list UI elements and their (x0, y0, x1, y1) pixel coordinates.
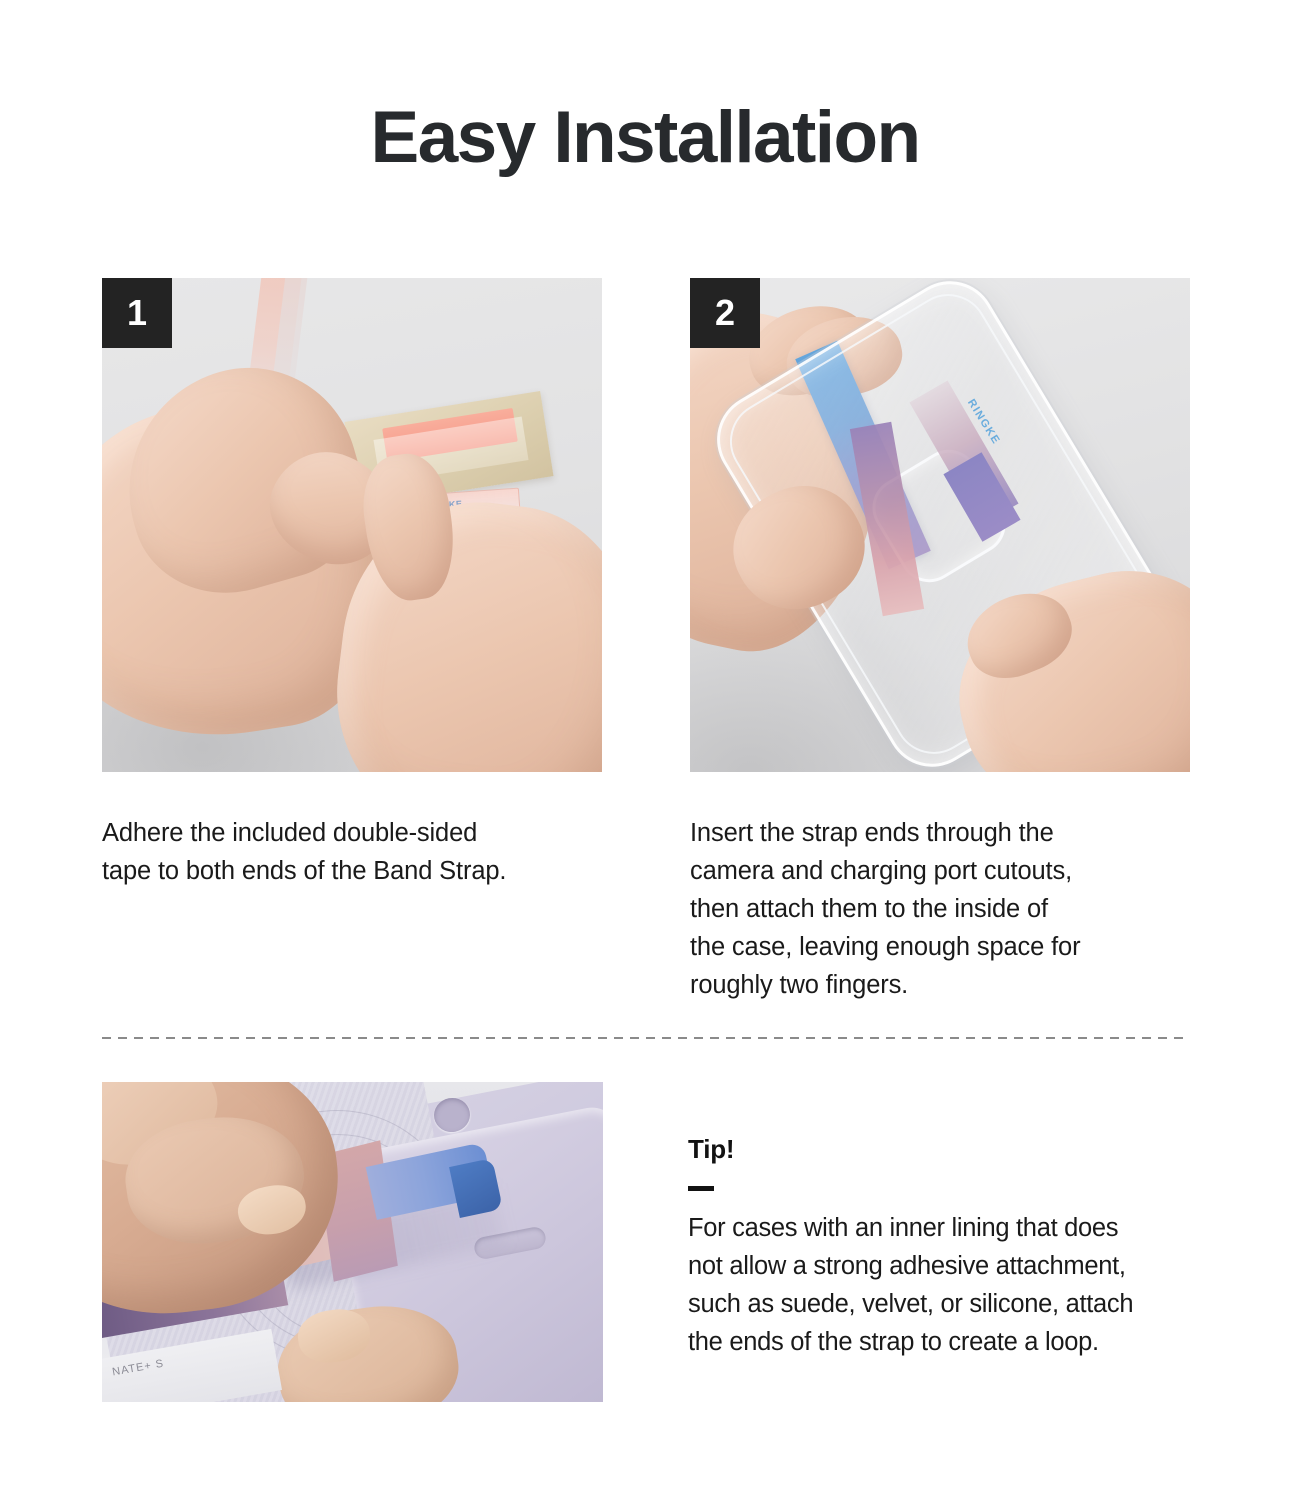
step-number-badge-1: 1 (102, 278, 172, 348)
tip-photo: NATE+ S (102, 1082, 603, 1402)
step-2-photo: RINGKE 2 (690, 278, 1190, 772)
step-1-photo: RINGKE 1 (102, 278, 602, 772)
tip-heading: Tip! (688, 1134, 1200, 1164)
step-number-badge-2: 2 (690, 278, 760, 348)
step-2-caption: Insert the strap ends through the camera… (690, 814, 1190, 1004)
page-title: Easy Installation (0, 96, 1290, 180)
tip-rule-dash (688, 1186, 714, 1191)
instruction-page: Easy Installation RINGKE (0, 0, 1290, 1500)
step-1: RINGKE 1 Adhere the included double-side… (102, 278, 602, 890)
dashed-divider (102, 1037, 1190, 1039)
step-1-caption: Adhere the included double-sided tape to… (102, 814, 602, 890)
step-2: RINGKE 2 Insert the strap ends through t… (690, 278, 1190, 1004)
tip-body: For cases with an inner lining that does… (688, 1209, 1200, 1361)
tip-text-block: Tip! For cases with an inner lining that… (688, 1134, 1200, 1361)
tip-photo-wrapper: NATE+ S (102, 1082, 603, 1402)
